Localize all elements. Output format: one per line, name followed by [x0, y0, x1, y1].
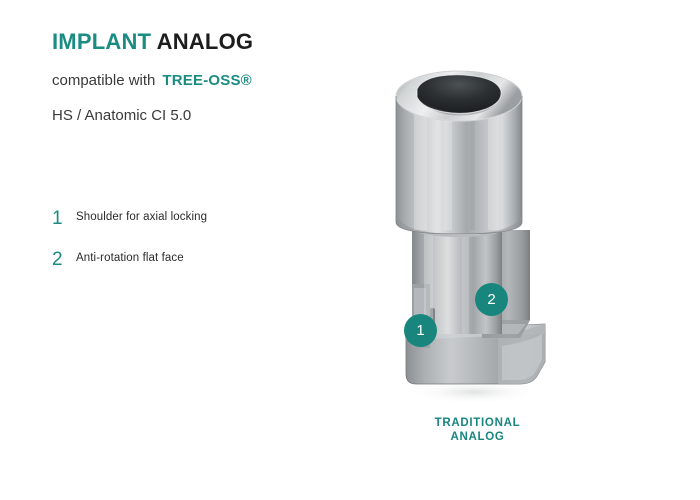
feature-number: 2	[52, 251, 76, 268]
page-title: IMPLANT ANALOG	[52, 28, 372, 56]
feature-number: 1	[52, 210, 76, 227]
list-item: 1 Shoulder for axial locking	[52, 210, 362, 227]
product-caption: TRADITIONAL ANALOG	[395, 416, 560, 444]
brand-name: TREE-OSS®	[162, 72, 252, 89]
callout-badge-1[interactable]: 1	[404, 314, 437, 347]
feature-label: Anti-rotation flat face	[76, 251, 184, 266]
implant-analog-illustration	[370, 62, 590, 442]
product-caption-line1: TRADITIONAL	[395, 416, 560, 430]
model-line: HS / Anatomic CI 5.0	[52, 105, 372, 127]
callout-badge-2[interactable]: 2	[475, 283, 508, 316]
list-item: 2 Anti-rotation flat face	[52, 251, 362, 268]
page-title-dark: ANALOG	[157, 29, 254, 54]
feature-label: Shoulder for axial locking	[76, 210, 207, 225]
feature-list: 1 Shoulder for axial locking 2 Anti-rota…	[52, 210, 362, 292]
compatibility-prefix: compatible with	[52, 72, 155, 89]
text-panel: IMPLANT ANALOG compatible withTREE-OSS® …	[52, 28, 372, 127]
compatibility-line: compatible withTREE-OSS®	[52, 70, 372, 92]
product-figure	[370, 62, 590, 442]
page-title-accent: IMPLANT	[52, 29, 151, 54]
product-caption-line2: ANALOG	[395, 430, 560, 444]
